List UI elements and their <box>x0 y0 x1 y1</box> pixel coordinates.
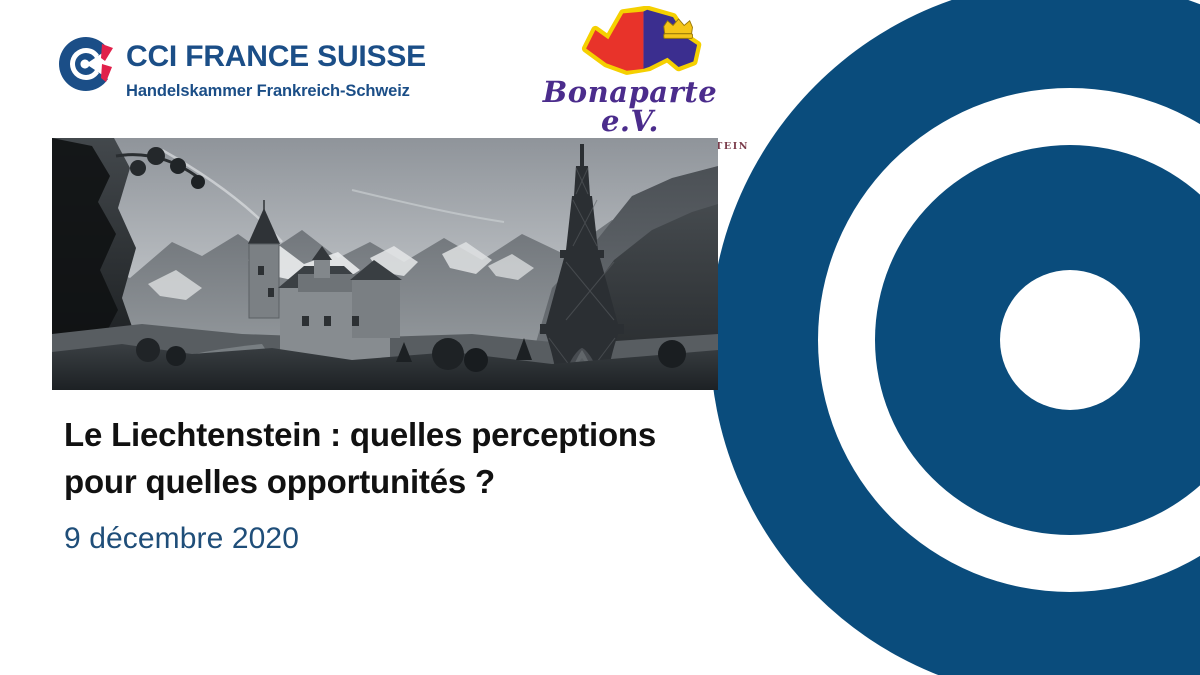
page-title-line-2: pour quelles opportunités ? <box>64 459 764 506</box>
cci-logo-subtitle: Handelskammer Frankreich-Schweiz <box>126 82 426 101</box>
ring-core <box>1000 270 1140 410</box>
cci-logo-title: CCI FRANCE SUISSE <box>126 42 426 72</box>
liechtenstein-map-icon <box>538 6 723 80</box>
sponsor-logo-row: First BUSINESSFRANCE <box>0 548 940 675</box>
ring-outer-gap <box>818 88 1200 592</box>
ring-inner-disc <box>875 145 1200 535</box>
crown-icon <box>663 19 692 38</box>
page-title: Le Liechtenstein : quelles perceptions p… <box>64 412 764 506</box>
presentation-slide: CCI FRANCE SUISSE Handelskammer Frankrei… <box>0 0 1200 675</box>
page-title-line-1: Le Liechtenstein : quelles perceptions <box>64 416 656 453</box>
cci-france-suisse-logo: CCI FRANCE SUISSE Handelskammer Frankrei… <box>56 34 426 101</box>
vaduz-castle-eiffel-tower-montage <box>52 138 718 390</box>
bonaparte-logo: Bonaparte e.V. FRANKOPHILE IN LIECHTENST… <box>510 6 750 152</box>
cci-roundel-icon <box>56 34 116 94</box>
bonaparte-name: Bonaparte e.V. <box>510 78 750 136</box>
